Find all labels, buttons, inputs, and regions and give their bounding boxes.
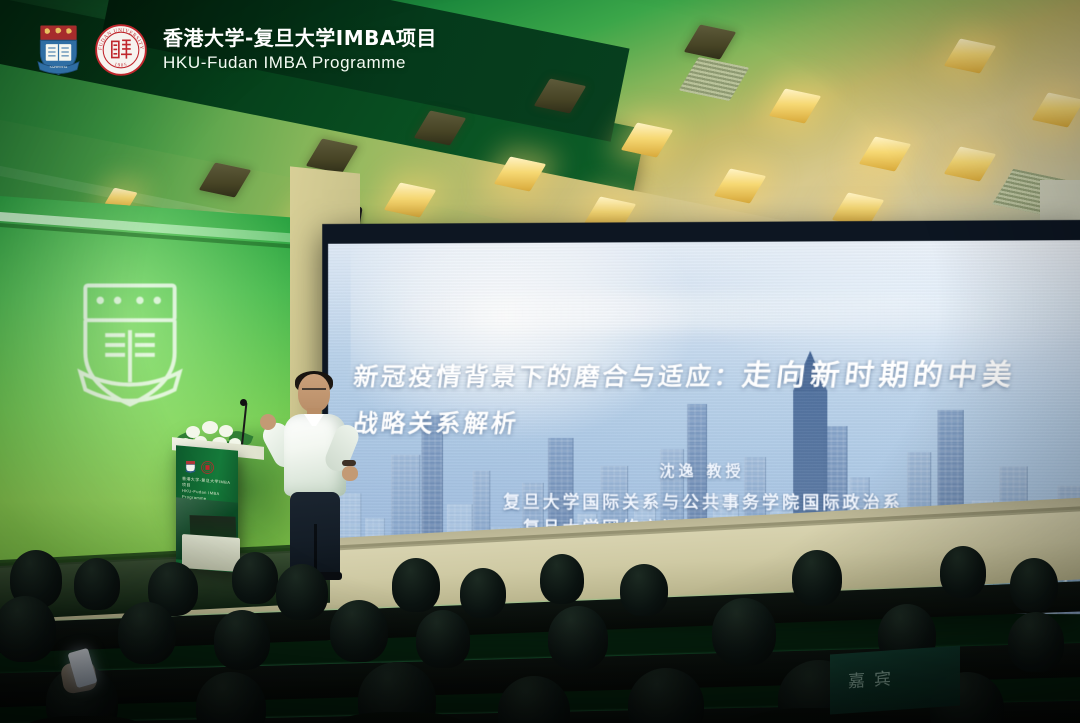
slide-title-segment-a: 新冠疫情背景下的磨合与适应： (352, 362, 744, 391)
banner-title-en: HKU-Fudan IMBA Programme (163, 51, 437, 75)
slide-title-line-2: 战略关系解析 (351, 404, 521, 440)
audience-head (940, 546, 986, 598)
ceiling-light (944, 146, 997, 181)
slide-title-line-1: 新冠疫情背景下的磨合与适应：走向新时期的中美 (350, 345, 1077, 406)
audience-head (540, 554, 584, 604)
guest-seat-sign: 嘉宾 (830, 645, 960, 714)
ceiling-light (684, 24, 737, 59)
speaker-right-hand (342, 466, 358, 481)
speaker-glasses (302, 388, 326, 395)
audience-shoulders (20, 716, 150, 723)
banner-title-cn: 香港大学-复旦大学IMBA项目 (163, 25, 437, 51)
audience-head (548, 606, 608, 670)
audience-head (1010, 558, 1058, 612)
ceiling-vent (679, 57, 750, 101)
audience-head (232, 552, 278, 604)
lecture-hall-photo: 新冠疫情背景下的磨合与适应：走向新时期的中美 战略关系解析 沈逸 教授 复旦大学… (0, 0, 1080, 723)
presenter-name: 沈逸 教授 (328, 460, 1080, 482)
audience-head (1008, 612, 1064, 672)
podium-fudan-seal-icon (201, 461, 214, 474)
fudan-seal-logo: FUDAN UNIVERSITY 1905 (94, 23, 148, 77)
audience-head (792, 550, 842, 606)
audience-head (276, 564, 328, 620)
microphone-head (240, 399, 247, 406)
speaker-left-hand (260, 414, 276, 430)
ceiling-light (1032, 92, 1080, 127)
hku-crest-wall-emblem (68, 275, 192, 415)
guest-sign-text: 嘉宾 (848, 664, 900, 693)
audience-head (620, 564, 668, 616)
podium-logos (184, 460, 228, 474)
audience-head (392, 558, 440, 612)
audience-head (214, 610, 270, 670)
svg-text:SAPIENTIA: SAPIENTIA (50, 65, 68, 69)
audience-head (460, 568, 506, 618)
audience-head (0, 596, 56, 662)
audience-head (118, 602, 176, 664)
ceiling-light (769, 88, 822, 123)
slide-title-segment-b: 走向新时期的中美 (740, 357, 1019, 391)
podium-hku-crest-icon (184, 460, 197, 474)
podium-caption: 香港大学-复旦大学IMBA项目 HKU-Fudan IMBA Programme (182, 476, 232, 504)
programme-banner: SAPIENTIA FUDAN UNIVERSITY 1905 香港大学-复旦大… (34, 22, 437, 78)
banner-text: 香港大学-复旦大学IMBA项目 HKU-Fudan IMBA Programme (163, 25, 437, 75)
audience-head (416, 610, 470, 668)
audience-head (74, 558, 120, 610)
hku-crest-logo: SAPIENTIA (34, 22, 83, 78)
ceiling-light (714, 168, 767, 203)
audience-head (330, 600, 388, 662)
audience-head (712, 598, 776, 666)
cloud-band (387, 293, 1037, 332)
ceiling-light (944, 38, 997, 73)
ceiling-light (859, 136, 912, 171)
